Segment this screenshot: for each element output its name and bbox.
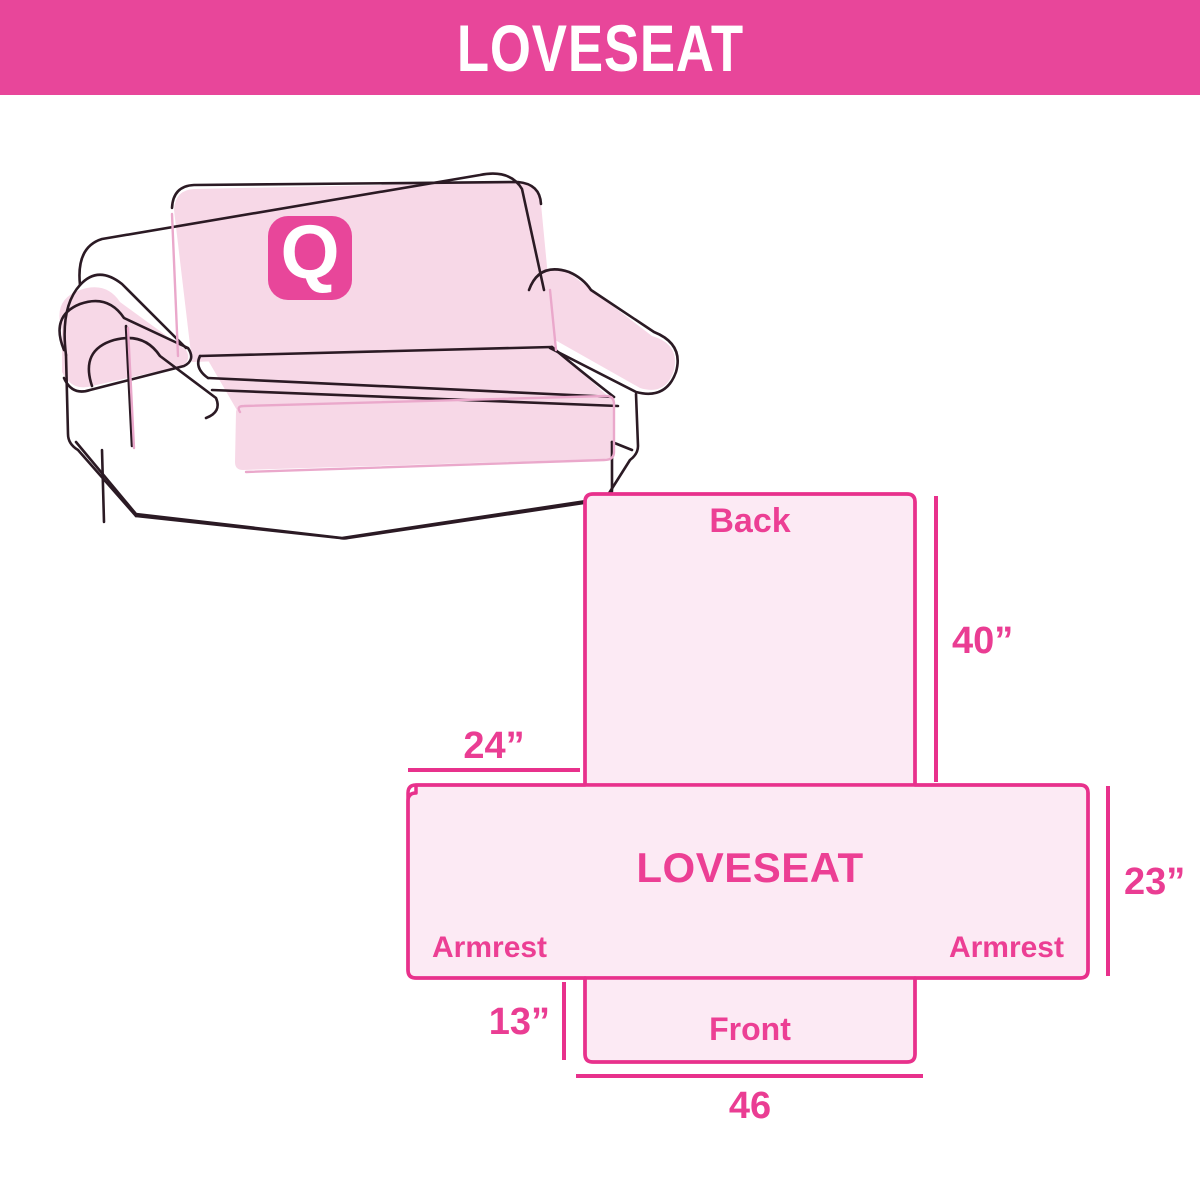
dimension-armrest-width: 24” [408, 725, 580, 770]
brand-logo: Q [268, 210, 352, 300]
dimension-front-skirt-label: 13” [489, 1001, 550, 1043]
dimension-front-width-label: 46 [729, 1085, 771, 1127]
slipcover-layout-diagram: Back LOVESEAT Armrest Armrest Front 40” … [380, 470, 1200, 1150]
dimension-back-height-label: 40” [952, 620, 1013, 662]
loveseat-size-chart-page: LOVESEAT [0, 0, 1200, 1200]
label-armrest-right: Armrest [949, 931, 1064, 964]
sofa-front-skirt [235, 398, 614, 470]
dimension-back-height: 40” [936, 496, 1013, 782]
label-back: Back [709, 502, 790, 540]
label-front: Front [709, 1011, 791, 1047]
label-armrest-left: Armrest [432, 931, 547, 964]
dimension-armrest-width-label: 24” [463, 725, 524, 767]
sofa-back-panel [174, 182, 555, 362]
dimension-front-skirt: 13” [489, 982, 564, 1060]
label-loveseat-center: LOVESEAT [636, 844, 863, 891]
dimension-armrest-depth-label: 23” [1124, 861, 1185, 903]
brand-logo-letter: Q [280, 210, 339, 295]
dimension-armrest-depth: 23” [1108, 786, 1185, 976]
dimension-front-width: 46 [576, 1076, 923, 1127]
header-banner: LOVESEAT [0, 0, 1200, 95]
page-title: LOVESEAT [456, 15, 743, 81]
